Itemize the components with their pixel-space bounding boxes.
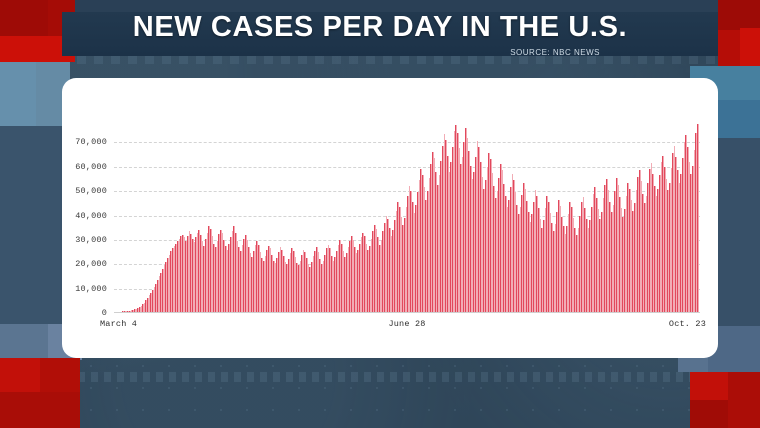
source-attribution: SOURCE: NBC NEWS xyxy=(510,48,600,57)
y-tick-label: 0 xyxy=(102,308,107,318)
y-tick-label: 30,000 xyxy=(75,235,107,245)
page-title: NEW CASES PER DAY IN THE U.S. xyxy=(0,12,760,42)
decor-block-red-bottom-left-b xyxy=(0,392,80,428)
chart-card: 70,00060,00050,00040,00030,00020,00010,0… xyxy=(62,78,718,358)
y-tick-label: 40,000 xyxy=(75,211,107,221)
x-tick-label-end: Oct. 23 xyxy=(669,319,706,329)
y-tick-label: 60,000 xyxy=(75,162,107,172)
decor-block-blue-left-middle xyxy=(0,126,70,324)
x-tick-label-start: March 4 xyxy=(100,319,137,329)
x-tick-label-middle: June 28 xyxy=(388,319,425,329)
y-tick-label: 50,000 xyxy=(75,186,107,196)
decor-block-blue-top-left-inner xyxy=(0,62,36,126)
bar xyxy=(697,124,699,313)
y-tick-label: 20,000 xyxy=(75,259,107,269)
bar-chart: 70,00060,00050,00040,00030,00020,00010,0… xyxy=(62,78,718,358)
background-bar-pattern-bottom xyxy=(0,372,760,382)
y-tick-label: 10,000 xyxy=(75,284,107,294)
plot-area: 70,00060,00050,00040,00030,00020,00010,0… xyxy=(114,118,700,313)
decor-block-red-bottom-right-b xyxy=(690,400,728,428)
bars-group xyxy=(114,118,700,313)
x-axis-line xyxy=(114,312,700,313)
graphic-stage: NEW CASES PER DAY IN THE U.S. SOURCE: NB… xyxy=(0,0,760,428)
background-dot-pattern xyxy=(0,355,760,428)
decor-block-red-bottom-right-c xyxy=(728,372,760,428)
y-tick-label: 70,000 xyxy=(75,137,107,147)
